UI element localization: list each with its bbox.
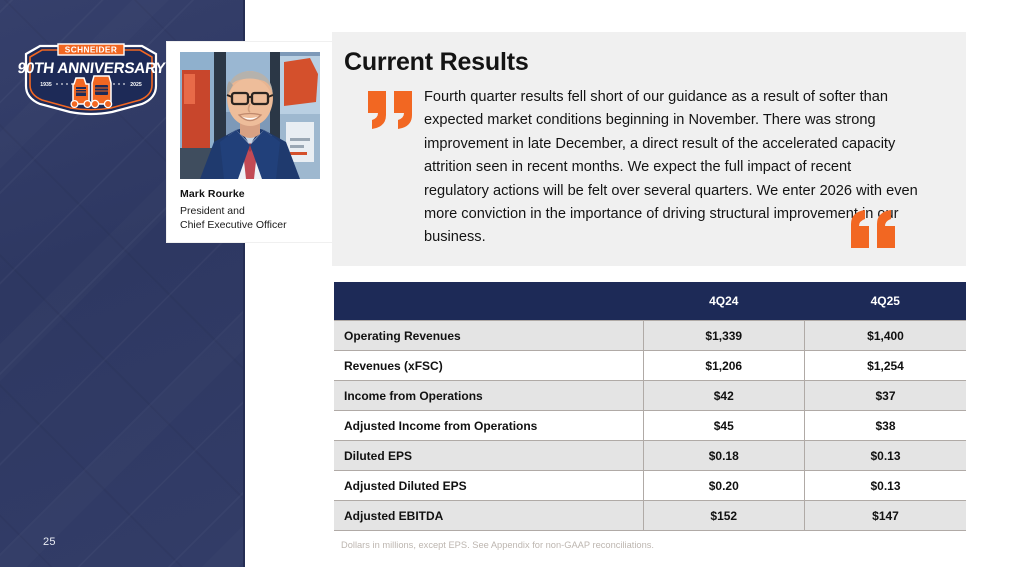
row-value-4q24: $42 (643, 381, 805, 411)
table-row: Adjusted EBITDA $152 $147 (334, 501, 966, 531)
logo-year-start: 1935 (40, 82, 52, 88)
logo-modern-truck-icon (91, 76, 111, 108)
quote-close-icon (843, 208, 899, 252)
table-row: Operating Revenues $1,339 $1,400 (334, 321, 966, 351)
row-label: Adjusted Diluted EPS (334, 471, 643, 501)
page-title: Current Results (344, 48, 529, 77)
row-value-4q25: $38 (805, 411, 967, 441)
executive-title-line1: President and (180, 205, 287, 219)
row-value-4q24: $45 (643, 411, 805, 441)
col-header-metric (334, 282, 643, 321)
row-label: Adjusted Income from Operations (334, 411, 643, 441)
table-body: Operating Revenues $1,339 $1,400 Revenue… (334, 321, 966, 531)
table-header-row: 4Q24 4Q25 (334, 282, 966, 321)
row-label: Diluted EPS (334, 441, 643, 471)
table-row: Adjusted Diluted EPS $0.20 $0.13 (334, 471, 966, 501)
table-footnote: Dollars in millions, except EPS. See App… (341, 540, 654, 550)
col-header-4q24: 4Q24 (643, 282, 805, 321)
executive-name: Mark Rourke (180, 188, 245, 200)
row-value-4q24: $152 (643, 501, 805, 531)
executive-card: Mark Rourke President and Chief Executiv… (167, 42, 333, 242)
table-row: Income from Operations $42 $37 (334, 381, 966, 411)
row-value-4q24: $1,206 (643, 351, 805, 381)
row-label: Adjusted EBITDA (334, 501, 643, 531)
logo-headline-text: 90TH ANNIVERSARY (17, 60, 166, 77)
row-value-4q24: $0.18 (643, 441, 805, 471)
row-label: Revenues (xFSC) (334, 351, 643, 381)
quote-panel: Current Results Fourth quarter results f… (332, 32, 966, 266)
executive-photo (180, 52, 320, 179)
row-value-4q25: $1,400 (805, 321, 967, 351)
row-value-4q25: $0.13 (805, 471, 967, 501)
row-value-4q25: $147 (805, 501, 967, 531)
executive-title: President and Chief Executive Officer (180, 205, 287, 232)
table-header: 4Q24 4Q25 (334, 282, 966, 321)
row-value-4q25: $0.13 (805, 441, 967, 471)
row-label: Income from Operations (334, 381, 643, 411)
page-number: 25 (43, 536, 56, 548)
row-value-4q25: $1,254 (805, 351, 967, 381)
financial-results-table: 4Q24 4Q25 Operating Revenues $1,339 $1,4… (334, 282, 966, 531)
executive-title-line2: Chief Executive Officer (180, 219, 287, 233)
logo-year-end: 2025 (130, 82, 142, 88)
row-value-4q24: $0.20 (643, 471, 805, 501)
table-row: Revenues (xFSC) $1,206 $1,254 (334, 351, 966, 381)
col-header-4q25: 4Q25 (805, 282, 967, 321)
row-value-4q24: $1,339 (643, 321, 805, 351)
table-row: Adjusted Income from Operations $45 $38 (334, 411, 966, 441)
quote-open-icon (364, 87, 420, 131)
logo-brand-text: SCHNEIDER (65, 45, 117, 55)
anniversary-logo: SCHNEIDER 90TH ANNIVERSARY 1935 2025 (16, 38, 166, 116)
table-row: Diluted EPS $0.18 $0.13 (334, 441, 966, 471)
row-label: Operating Revenues (334, 321, 643, 351)
slide-canvas: 25 SCHNEIDER 90TH ANNIVERSARY 1935 2025 (0, 0, 1021, 567)
row-value-4q25: $37 (805, 381, 967, 411)
